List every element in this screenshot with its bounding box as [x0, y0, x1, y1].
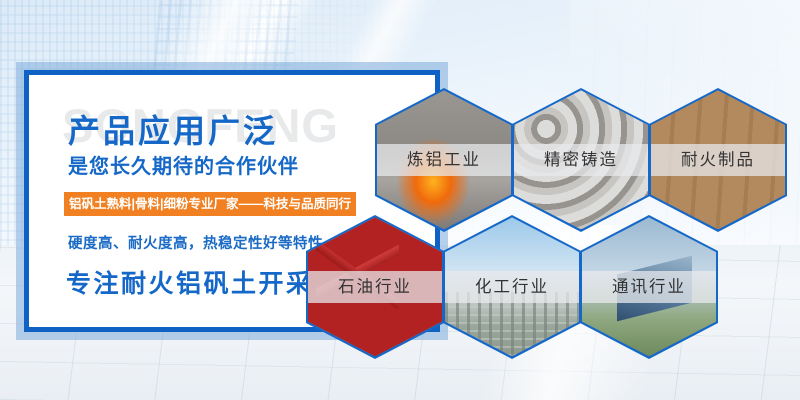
tagline-badge: 铝矾土熟料|骨料|细粉专业厂家——科技与品质同行 — [64, 192, 356, 216]
promo-banner: SONGFENG 产品应用广泛 是您长久期待的合作伙伴 铝矾土熟料|骨料|细粉专… — [0, 0, 800, 400]
hex-label-communication: 通讯行业 — [582, 271, 716, 303]
feature-text: 硬度高、耐火度高，热稳定性好等特性 — [68, 232, 323, 253]
hex-label-petroleum: 石油行业 — [308, 271, 442, 303]
hex-label-casting: 精密铸造 — [514, 144, 648, 176]
headline-subtitle: 是您长久期待的合作伙伴 — [68, 150, 299, 179]
hex-label-aluminium: 炼铝工业 — [377, 144, 511, 176]
headline-title: 产品应用广泛 — [68, 106, 278, 152]
hex-label-refractory: 耐火制品 — [651, 144, 785, 176]
hex-label-chemical: 化工行业 — [445, 271, 579, 303]
